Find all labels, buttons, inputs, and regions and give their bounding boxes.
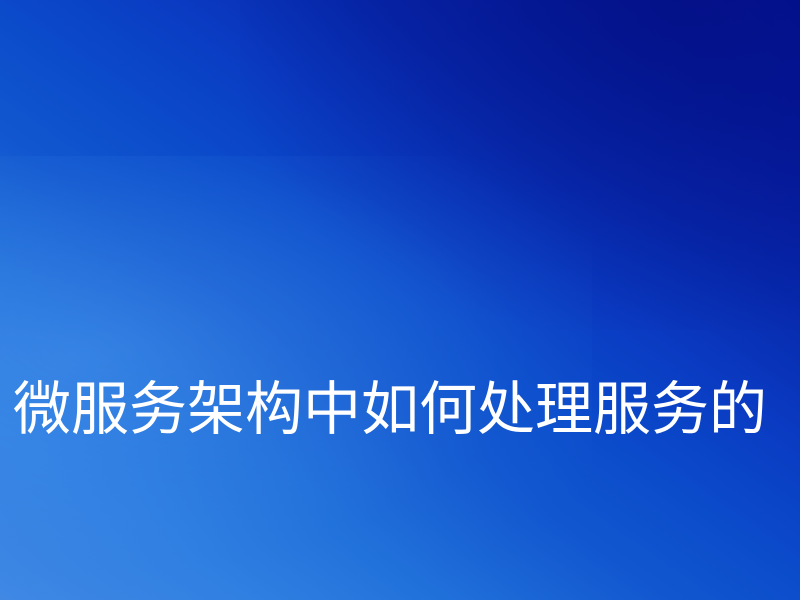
title-banner: 微服务架构中如何处理服务的 安全漏洞和缺陷？ xyxy=(0,0,800,600)
headline-line-1: 微服务架构中如何处理服务的 xyxy=(13,368,800,452)
headline-text: 微服务架构中如何处理服务的 安全漏洞和缺陷？ xyxy=(13,200,800,600)
